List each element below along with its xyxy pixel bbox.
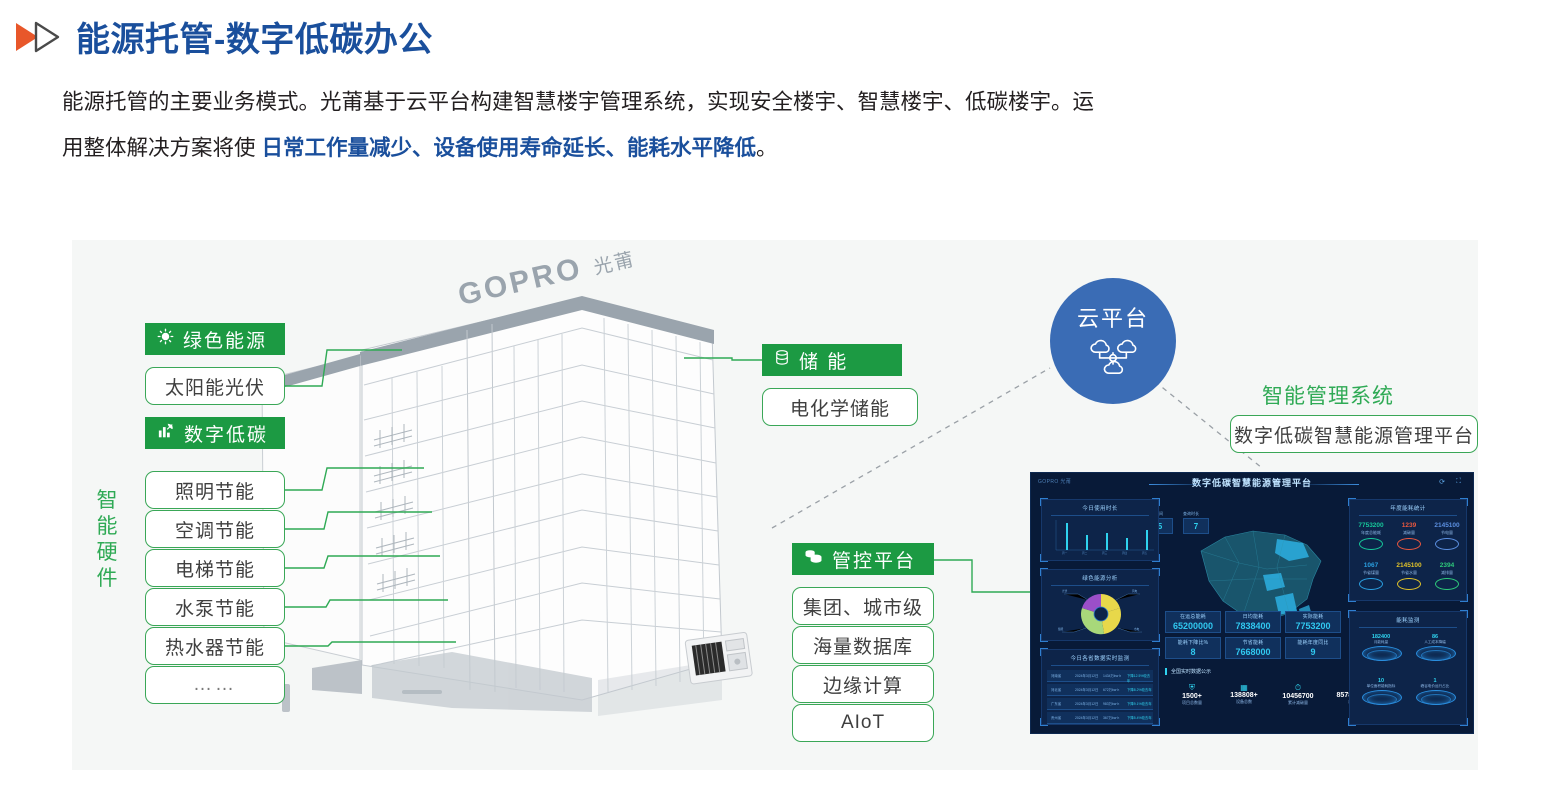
ring-kpi: 1067 节省煤量	[1354, 562, 1388, 590]
pill-more[interactable]: ……	[145, 666, 285, 704]
ring-kpi: 1239 减碳量	[1392, 522, 1426, 550]
pill-group-city-level[interactable]: 集团、城市级	[792, 587, 934, 625]
pill-water-heater-saving[interactable]: 热水器节能	[145, 627, 285, 665]
panel-energy-monitor-title: 能耗监测	[1350, 612, 1466, 624]
page-header: 能源托管-数字低碳办公 能源托管的主要业务模式。光莆基于云平台构建智慧楼宇管理系…	[0, 0, 1550, 171]
stat-card: 能耗年度同比 9	[1285, 637, 1341, 659]
sun-icon	[157, 328, 174, 351]
panel-usage-duration-title: 今日使用时长	[1042, 500, 1158, 512]
ring-kpi: 7753200 年度总能耗	[1354, 522, 1388, 550]
pill-lighting-saving[interactable]: 照明节能	[145, 471, 285, 509]
chip-green-energy-label: 绿色能源	[183, 326, 267, 353]
footer-stat: ▦ 138808+ 设备总数	[1217, 683, 1271, 705]
svg-text:周三: 周三	[1102, 551, 1108, 555]
cloud-platform-node[interactable]: 云平台	[1050, 278, 1176, 404]
footer-stat: ⏱ 10456700 累计减碳量	[1267, 683, 1329, 706]
page-title: 能源托管-数字低碳办公	[76, 12, 433, 61]
footer-section-title: 全国实时数据公示	[1165, 668, 1211, 675]
clock-icon: ⏱	[1267, 683, 1329, 693]
monitor-item: 10 单位面积能耗指标	[1358, 678, 1404, 689]
smart-hardware-label: 智能硬件	[94, 488, 120, 592]
refresh-icon[interactable]: ⟳	[1439, 478, 1445, 486]
table-row[interactable]: 贵州省 2024年3月12日 367万kw·h 下降5.4%较去年	[1047, 712, 1153, 724]
intro-paragraph: 能源托管的主要业务模式。光莆基于云平台构建智慧楼宇管理系统，实现安全楼宇、智慧楼…	[62, 79, 1522, 171]
play-double-arrow-icon	[8, 17, 62, 57]
usage-duration-bar-chart: 周一周二周三 周四周五	[1042, 516, 1160, 556]
electric-meter-icon	[684, 630, 756, 690]
pill-energy-management-platform[interactable]: 数字低碳智慧能源管理平台	[1230, 415, 1478, 453]
svg-text:光伏: 光伏	[1062, 589, 1068, 593]
pill-elevator-saving[interactable]: 电梯节能	[145, 549, 285, 587]
chip-digital-low-carbon: 数字低碳	[145, 417, 285, 449]
pill-aiot[interactable]: AIoT	[792, 704, 934, 742]
footer-stat: ⛨ 1500+ 项目总数量	[1165, 683, 1219, 706]
panel-province-realtime: 今日各省数据实时监测 河南省 2024年3月12日 1434万kw·h 下降12…	[1041, 649, 1159, 725]
ring-kpi: 2145100 节电量	[1430, 522, 1464, 550]
cloud-platform-label: 云平台	[1077, 301, 1149, 333]
pill-edge-computing[interactable]: 边缘计算	[792, 665, 934, 703]
bar-chart-leaf-icon	[157, 422, 175, 445]
dashboard-title-rule-left	[1149, 484, 1211, 485]
panel-green-energy-analysis: 绿色能源分析 光伏风电 储能市电	[1041, 569, 1159, 641]
svg-text:风电: 风电	[1132, 589, 1138, 593]
svg-text:周五: 周五	[1142, 551, 1148, 555]
chip-energy-storage-label: 储 能	[799, 347, 848, 374]
svg-text:周一: 周一	[1062, 551, 1068, 555]
pill-solar-pv[interactable]: 太阳能光伏	[145, 367, 285, 405]
svg-text:周二: 周二	[1082, 551, 1088, 555]
fullscreen-icon[interactable]: ⛶	[1456, 478, 1461, 486]
svg-text:市电: 市电	[1134, 627, 1140, 631]
stat-card: 能耗下降比% 8	[1165, 637, 1221, 659]
panel-green-energy-analysis-title: 绿色能源分析	[1042, 570, 1158, 582]
building-icon: ⛨	[1165, 683, 1219, 693]
panel-annual-consumption-title: 年度能耗统计	[1350, 500, 1466, 512]
smart-management-system-title: 智能管理系统	[1262, 380, 1394, 410]
dashboard-screenshot[interactable]: GOPRO 光莆 数字低碳智慧能源管理平台 ⟳ ⛶ 查询时间	[1030, 472, 1474, 734]
intro-line-2: 用整体解决方案将使	[62, 136, 261, 160]
pill-hvac-saving[interactable]: 空调节能	[145, 510, 285, 548]
chip-green-energy: 绿色能源	[145, 323, 285, 355]
diagram-panel: GOPRO 光莆	[72, 240, 1478, 770]
pill-pump-saving[interactable]: 水泵节能	[145, 588, 285, 626]
panel-usage-duration: 今日使用时长 周一周二周三 周四周五	[1041, 499, 1159, 561]
pill-electrochemical-storage[interactable]: 电化学储能	[762, 388, 918, 426]
green-energy-pie-chart: 光伏风电 储能市电	[1042, 586, 1160, 640]
selector-label-1: 查询时长	[1183, 511, 1199, 517]
intro-line-1: 能源托管的主要业务模式。光莆基于云平台构建智慧楼宇管理系统，实现安全楼宇、智慧楼…	[62, 90, 1094, 114]
stacked-coins-icon	[804, 548, 823, 571]
intro-emphasis: 日常工作量减少、设备使用寿命延长、能耗水平降低	[261, 136, 756, 160]
pill-mass-database[interactable]: 海量数据库	[792, 626, 934, 664]
table-row[interactable]: 广东省 2024年3月12日 983万kw·h 下降9.1%较去年	[1047, 698, 1153, 710]
table-row[interactable]: 河北省 2024年3月12日 672万kw·h 下降8.2%较去年	[1047, 684, 1153, 696]
ring-kpi: 2145100 节省水量	[1392, 562, 1426, 590]
title-row: 能源托管-数字低碳办公	[0, 0, 1550, 61]
intro-line-3: 。	[756, 136, 778, 160]
svg-text:储能: 储能	[1058, 627, 1064, 631]
stat-card: 在运总能耗 65200000	[1165, 611, 1221, 633]
chip-control-platform-label: 管控平台	[832, 546, 916, 573]
stat-card: 实际能耗 7753200	[1285, 611, 1341, 633]
panel-annual-consumption: 年度能耗统计 7753200 年度总能耗 1239 减碳量 2145100 节电…	[1349, 499, 1467, 601]
stat-card: 节省能耗 7668000	[1225, 637, 1281, 659]
table-row[interactable]: 河南省 2024年3月12日 1434万kw·h 下降12.5%较去年	[1047, 670, 1153, 682]
dashboard-title: 数字低碳智慧能源管理平台	[1031, 476, 1473, 489]
monitor-item: 86 人工成本降幅	[1412, 634, 1458, 645]
panel-province-realtime-title: 今日各省数据实时监测	[1042, 650, 1158, 662]
ring-kpi: 2394 减排量	[1430, 562, 1464, 590]
database-icon	[774, 349, 790, 372]
device-icon: ▦	[1217, 683, 1271, 692]
chip-control-platform: 管控平台	[792, 543, 934, 575]
chip-digital-low-carbon-label: 数字低碳	[184, 420, 268, 447]
dashboard-title-rule-right	[1297, 484, 1359, 485]
monitor-item: 1 峰谷电价运行占比	[1412, 678, 1458, 689]
monitor-item: 182400 月能耗量	[1358, 634, 1404, 645]
svg-text:周四: 周四	[1122, 551, 1128, 555]
stat-card: 日均能耗 7838400	[1225, 611, 1281, 633]
panel-energy-monitor: 能耗监测 182400 月能耗量 86 人工成本降幅 10 单位面积能耗指标	[1349, 611, 1467, 725]
chip-energy-storage: 储 能	[762, 344, 902, 376]
cloud-network-icon	[1086, 337, 1140, 382]
selector-value-1[interactable]: 7	[1183, 518, 1209, 534]
